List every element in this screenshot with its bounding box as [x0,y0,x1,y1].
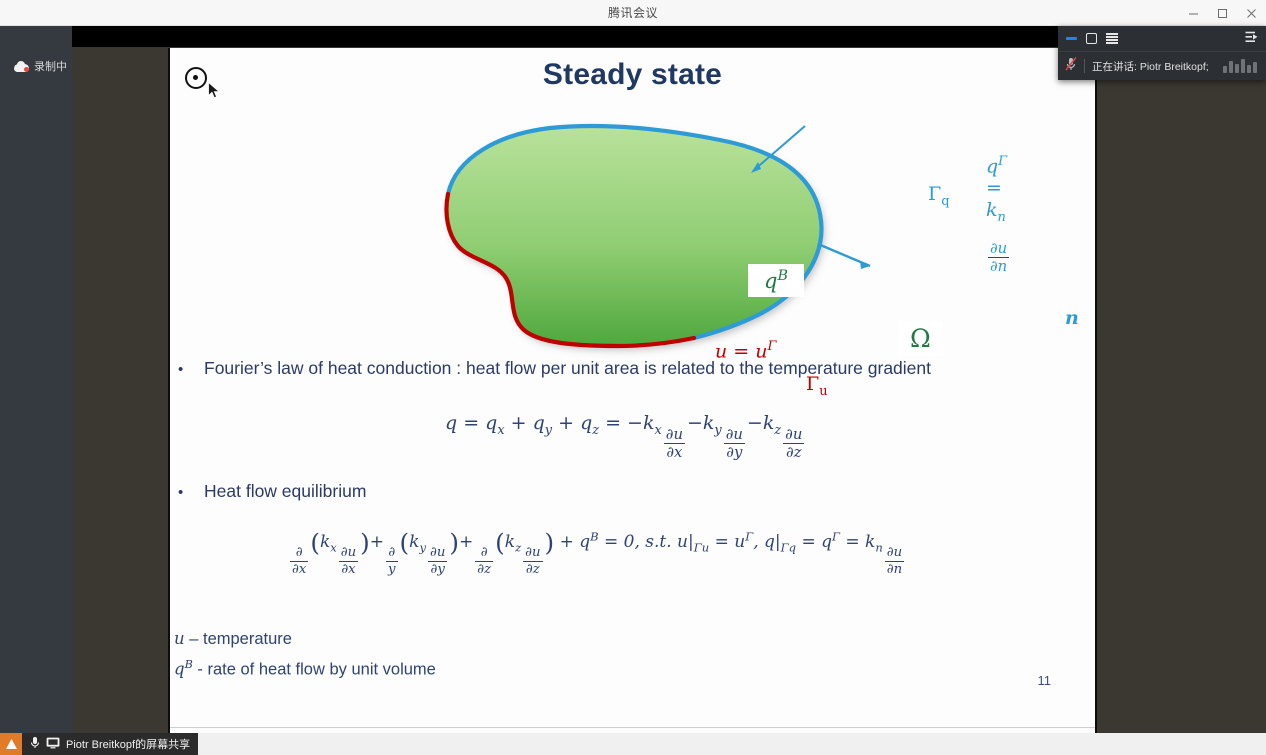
float-panel-icon-group [1066,33,1118,44]
eq1-frac2: ∂u∂y [724,426,745,461]
microphone-icon[interactable] [30,736,40,752]
uu-sup: Γ [767,339,776,354]
steady-state-diagram: qB Ω Γq Γu u = uΓ n qΓ = kn ∂u ∂n [420,96,880,361]
window-titlebar: 腾讯会议 [0,0,1266,26]
eq1-lhs: q = q [445,412,497,434]
eq2-k2-sub: y [419,540,426,554]
eq2-paren-open-2: ( [400,528,410,557]
eq2-gq-sub: Γq [781,540,796,554]
eq1-sub-x: x [497,423,504,438]
bullet-fourier-text: Fourier’s law of heat conduction : heat … [204,358,931,379]
legend-q-symbol: q [174,660,185,679]
minimize-icon[interactable] [1066,37,1077,40]
bullet-marker: • [178,484,204,501]
eq2-k3: k [505,532,515,552]
diagram-label-flux-condition: qΓ = kn ∂u ∂n [986,154,1011,275]
taskbar-empty-area [198,733,1266,755]
eq1-sub-y: y [545,423,552,438]
legend-q-sup: B [185,658,193,671]
bullet-marker: • [178,361,204,378]
eq1-plus2: + q [552,412,592,434]
eq2-k3-sub: z [515,540,521,554]
eq1-kx-sub: x [655,423,662,438]
qB-q: q [764,269,777,293]
cloud-recording-icon [14,61,29,72]
eq2-paren-open-1: ( [310,528,320,557]
eq1-frac3-den: ∂z [783,444,804,461]
window-controls [1179,0,1266,26]
eq2-i1: ∂u∂x [339,545,358,577]
eq2-paren-close-1: ) [360,528,370,557]
bullet-heat-text: Heat flow equilibrium [204,481,366,502]
taskbar-screenshare-item[interactable]: Piotr Breitkopf的屏幕共享 [22,733,198,755]
eq2-d1-den: ∂x [290,562,308,577]
qgam-sup: Γ [998,154,1007,169]
shared-document[interactable]: Steady state [168,48,1097,755]
eq2-d3: ∂∂z [475,545,493,577]
eq2-d1: ∂∂x [290,545,308,577]
eq2-zero: = 0, s.t. u| [599,532,694,552]
float-panel-divider [1084,59,1085,73]
eq2-d3-den: ∂z [475,562,493,577]
eq2-paren-open-3: ( [495,528,505,557]
expand-panel-icon[interactable] [1245,30,1258,48]
eq2-k1-sub: x [330,540,337,554]
recording-label: 录制中 [34,58,67,74]
legend-item-u: u – temperature [174,626,436,652]
eq2-last-num: ∂u [885,545,904,561]
symbol-legend: u – temperature qB - rate of heat flow b… [174,626,436,683]
slide-title: Steady state [170,58,1095,92]
qgam-frac: ∂u ∂n [988,240,1009,275]
domain-shape-svg [420,96,880,361]
start-menu-icon[interactable] [0,733,22,755]
float-panel-speaking-row: 正在讲话: Piotr Breitkopf; [1058,52,1266,80]
eq1-frac2-den: ∂y [724,444,745,461]
eq2-i2-num: ∂u [428,545,447,561]
eq2-d2-num: ∂ [386,545,398,561]
qB-sup: B [777,268,787,284]
float-panel-toolbar [1058,26,1266,52]
eq1-ky-sub: y [714,423,721,438]
eq2-qB-sup: B [590,529,599,543]
eq1-plus1: + q [505,412,545,434]
participants-list-icon[interactable] [1106,33,1118,44]
diagram-label-flux-boundary: Γq [928,183,949,209]
equation-fourier-law: q = qx + qy + qz = −kx∂u∂x−ky∂u∂y−kz∂u∂z [445,412,806,462]
eq2-d2-den: y [386,562,398,577]
eq1-frac3: ∂u∂z [783,426,804,461]
eq2-kn-sub: n [875,540,882,554]
mic-muted-icon[interactable] [1065,57,1077,76]
eq1-frac2-num: ∂u [724,426,745,444]
eq2-i3-num: ∂u [523,545,542,561]
window-title: 腾讯会议 [608,4,658,21]
eq2-plus3: + q [554,532,590,552]
eq2-i1-den: ∂x [339,562,358,577]
bullet-heat-flow-equilibrium: • Heat flow equilibrium [178,481,678,502]
eq2-gu-sub: Γu [694,540,709,554]
qgam-frac-den: ∂n [988,258,1009,275]
slide-canvas: Steady state [170,48,1095,755]
qgam-kn-sub: n [998,210,1006,225]
meeting-left-sidebar [0,26,72,755]
close-button[interactable] [1237,0,1266,26]
eq1-eq: = −k [599,412,654,434]
eq2-i1-num: ∂u [339,545,358,561]
legend-item-qB: qB - rate of heat flow by unit volume [174,652,436,683]
maximize-button[interactable] [1208,0,1237,26]
eq1-frac1-num: ∂u [664,426,685,444]
eq2-last-den: ∂n [885,562,904,577]
legend-q-text: - rate of heat flow by unit volume [193,661,436,679]
eq1-frac3-num: ∂u [783,426,804,444]
eq2-i2: ∂u∂y [428,545,447,577]
bullet-fourier-law: • Fourier’s law of heat conduction : hea… [178,358,1088,379]
eq2-k1: k [320,532,330,552]
eq1-frac1: ∂u∂x [664,426,685,461]
eq2-d2: ∂y [386,545,398,577]
audio-waveform-icon [1223,59,1259,73]
qgam-frac-num: ∂u [988,240,1009,258]
eq2-paren-close-2: ) [449,528,459,557]
eq2-eq-qg: = q [796,532,832,552]
eq1-frac1-den: ∂x [664,444,685,461]
eq2-i3: ∂u∂z [523,545,542,577]
minimize-button[interactable] [1179,0,1208,26]
eq2-i3-den: ∂z [523,562,542,577]
eq1-minus2: −k [687,412,714,434]
eq2-k2: k [409,532,419,552]
gamq-sub: q [941,194,949,209]
eq1-kz-sub: z [774,423,781,438]
eq2-eq-kn: = k [840,532,875,552]
eq2-i2-den: ∂y [428,562,447,577]
legend-u-text: – temperature [185,630,292,648]
eq2-d3-num: ∂ [475,545,493,561]
eq2-qg-sup: Γ [832,529,840,543]
os-taskbar: Piotr Breitkopf的屏幕共享 [0,733,1266,755]
restore-icon[interactable] [1086,33,1097,44]
slide-page-number: 11 [1038,673,1052,688]
eq2-mid: = u [709,532,745,552]
eq2-d1-num: ∂ [290,545,308,561]
eq2-last: ∂u∂n [885,545,904,577]
legend-u-symbol: u [174,629,185,648]
eq2-paren-close-3: ) [545,528,555,557]
recording-badge: 录制中 [14,58,67,74]
meeting-float-panel[interactable]: 正在讲话: Piotr Breitkopf; [1058,26,1266,80]
speaking-label: 正在讲话: Piotr Breitkopf; [1092,59,1209,74]
app-root: 腾讯会议 录制中 [0,0,1266,755]
diagram-label-normal: n [1065,307,1079,329]
screen-share-icon[interactable] [46,737,60,752]
diagram-label-body-source: qB [748,264,804,297]
eq2-plus2: + [459,532,473,552]
equation-heat-equilibrium: ∂∂x(kx∂u∂x)+∂y(ky∂u∂y)+∂∂z(kz∂u∂z) + qB … [288,528,906,577]
eq2-plus1: + [370,532,384,552]
diagram-label-domain: Ω [898,321,943,356]
eq2-comma-q: , q| [753,532,780,552]
gamu-sub: u [819,384,827,399]
taskbar-share-label: Piotr Breitkopf的屏幕共享 [66,736,190,752]
eq1-minus3: −k [747,412,774,434]
